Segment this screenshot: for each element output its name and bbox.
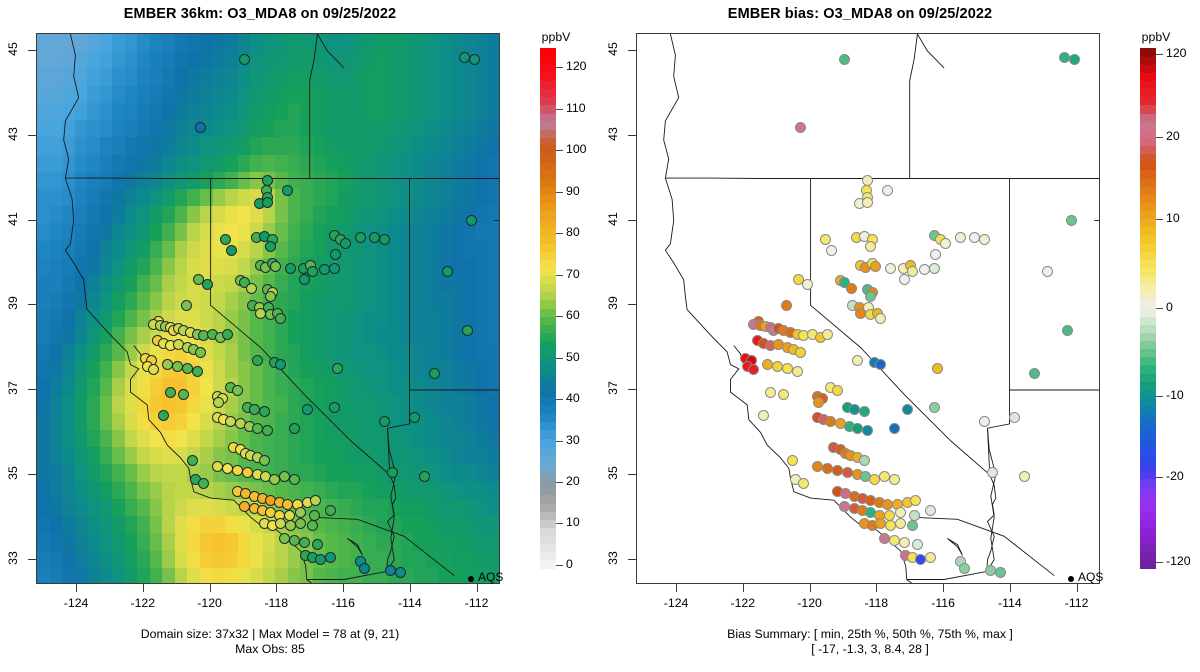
- obs-point: [226, 245, 237, 256]
- colorbar-segment: [540, 406, 556, 415]
- bias-point: [762, 359, 773, 370]
- x-tick-label: -116: [921, 596, 965, 610]
- bias-point: [1069, 54, 1080, 65]
- x-tick-label: -116: [321, 596, 365, 610]
- colorbar-tick-label: 0: [1166, 300, 1173, 314]
- bias-point: [865, 241, 876, 252]
- y-tick-label: 37: [6, 377, 20, 399]
- bias-point: [778, 389, 789, 400]
- model-caption-line2: Max Obs: 85: [0, 642, 540, 657]
- y-tick: [628, 304, 636, 305]
- x-tick: [1010, 584, 1011, 592]
- colorbar-segment: [1140, 243, 1156, 252]
- colorbar-segment: [1140, 89, 1156, 98]
- colorbar-segment: [540, 276, 556, 285]
- bias-point: [758, 410, 769, 421]
- bias-point: [885, 263, 896, 274]
- bias-point: [846, 283, 857, 294]
- colorbar-segment: [540, 324, 556, 333]
- x-tick: [943, 584, 944, 592]
- colorbar-segment: [540, 284, 556, 293]
- obs-point: [181, 300, 192, 311]
- obs-point: [379, 416, 390, 427]
- colorbar-segment: [540, 316, 556, 325]
- aqs-legend-dot-left: [468, 576, 474, 582]
- colorbar-tick: [556, 482, 563, 483]
- colorbar-segment: [540, 422, 556, 431]
- bias-observation-points: [637, 34, 1099, 583]
- obs-point: [279, 471, 290, 482]
- obs-point: [198, 478, 209, 489]
- obs-point: [282, 185, 293, 196]
- colorbar-segment: [1140, 300, 1156, 309]
- colorbar-segment: [1140, 227, 1156, 236]
- colorbar-segment: [540, 146, 556, 155]
- bias-point: [1029, 368, 1040, 379]
- obs-point: [387, 467, 398, 478]
- obs-point: [252, 423, 263, 434]
- colorbar-segment: [540, 511, 556, 520]
- obs-point: [330, 249, 341, 260]
- colorbar-tick: [556, 67, 563, 68]
- colorbar-segment: [1140, 267, 1156, 276]
- obs-point: [302, 404, 313, 415]
- bias-point: [995, 567, 1006, 578]
- y-tick-label: 41: [606, 208, 620, 230]
- colorbar-segment: [1140, 349, 1156, 358]
- x-tick-label: -124: [654, 596, 698, 610]
- x-tick-label: -122: [721, 596, 765, 610]
- colorbar-segment: [540, 430, 556, 439]
- obs-point: [419, 471, 430, 482]
- colorbar-segment: [1140, 397, 1156, 406]
- bias-colorbar: [1140, 48, 1156, 568]
- colorbar-segment: [540, 202, 556, 211]
- x-tick-label: -120: [788, 596, 832, 610]
- bias-point: [889, 535, 900, 546]
- x-tick-label: -114: [988, 596, 1032, 610]
- bias-point: [899, 274, 910, 285]
- bias-caption-line1: Bias Summary: [ min, 25th %, 50th %, 75t…: [600, 627, 1140, 642]
- bias-point: [859, 406, 870, 417]
- colorbar-tick: [556, 233, 563, 234]
- obs-point: [270, 261, 281, 272]
- bias-point: [802, 279, 813, 290]
- obs-point: [284, 510, 295, 521]
- colorbar-segment: [540, 235, 556, 244]
- colorbar-segment: [540, 527, 556, 536]
- y-tick-label: 43: [6, 123, 20, 145]
- colorbar-tick: [1156, 219, 1163, 220]
- obs-point: [299, 274, 310, 285]
- bias-point: [832, 385, 843, 396]
- y-tick-label: 39: [6, 292, 20, 314]
- bias-point: [959, 563, 970, 574]
- colorbar-segment: [540, 357, 556, 366]
- colorbar-segment: [540, 300, 556, 309]
- obs-point: [462, 325, 473, 336]
- aqs-legend-dot-right: [1068, 576, 1074, 582]
- obs-point: [332, 363, 343, 374]
- colorbar-segment: [540, 137, 556, 146]
- colorbar-segment: [1140, 162, 1156, 171]
- obs-point: [148, 364, 159, 375]
- colorbar-tick-label: -20: [1166, 469, 1184, 483]
- obs-point: [299, 537, 310, 548]
- bias-point: [782, 363, 793, 374]
- bias-point: [1019, 471, 1030, 482]
- colorbar-segment: [1140, 446, 1156, 455]
- colorbar-segment: [540, 162, 556, 171]
- colorbar-tick-label: 10: [566, 515, 580, 529]
- colorbar-tick-label: 0: [566, 557, 573, 571]
- colorbar-segment: [540, 113, 556, 122]
- bias-point: [826, 245, 837, 256]
- bias-point: [869, 474, 880, 485]
- obs-point: [262, 425, 273, 436]
- colorbar-segment: [1140, 178, 1156, 187]
- obs-point: [289, 423, 300, 434]
- colorbar-segment: [1140, 202, 1156, 211]
- bias-colorbar-unit: ppbV: [1128, 30, 1184, 44]
- colorbar-segment: [540, 56, 556, 65]
- panel-bias-title: EMBER bias: O3_MDA8 on 09/25/2022: [600, 6, 1120, 22]
- bias-point: [884, 510, 895, 521]
- colorbar-tick-label: 100: [566, 142, 587, 156]
- bias-point: [865, 291, 876, 302]
- colorbar-segment: [1140, 560, 1156, 569]
- colorbar-tick-label: 80: [566, 225, 580, 239]
- obs-point: [395, 567, 406, 578]
- bias-point: [979, 416, 990, 427]
- colorbar-tick: [556, 565, 563, 566]
- bias-point: [925, 505, 936, 516]
- colorbar-segment: [540, 154, 556, 163]
- panel-model-title: EMBER 36km: O3_MDA8 on 09/25/2022: [0, 6, 520, 22]
- obs-point: [329, 263, 340, 274]
- bias-point: [1009, 412, 1020, 423]
- obs-point: [158, 410, 169, 421]
- y-tick-label: 39: [606, 292, 620, 314]
- bias-point: [909, 510, 920, 521]
- obs-point: [466, 215, 477, 226]
- obs-point: [355, 232, 366, 243]
- colorbar-segment: [540, 381, 556, 390]
- colorbar-segment: [540, 332, 556, 341]
- x-tick: [76, 584, 77, 592]
- colorbar-segment: [540, 462, 556, 471]
- colorbar-segment: [1140, 341, 1156, 350]
- x-tick: [1077, 584, 1078, 592]
- bias-caption-line2: [ -17, -1.3, 3, 8.4, 28 ]: [600, 642, 1140, 657]
- x-tick: [343, 584, 344, 592]
- bias-point: [795, 347, 806, 358]
- obs-point: [319, 264, 330, 275]
- colorbar-segment: [1140, 137, 1156, 146]
- bias-point: [822, 329, 833, 340]
- colorbar-segment: [1140, 154, 1156, 163]
- colorbar-segment: [1140, 194, 1156, 203]
- obs-point: [262, 197, 273, 208]
- model-colorbar: [540, 48, 556, 568]
- colorbar-tick: [1156, 54, 1163, 55]
- colorbar-segment: [1140, 211, 1156, 220]
- colorbar-tick: [1156, 137, 1163, 138]
- colorbar-segment: [1140, 544, 1156, 553]
- bias-point: [862, 425, 873, 436]
- colorbar-tick: [556, 192, 563, 193]
- colorbar-segment: [1140, 487, 1156, 496]
- obs-point: [285, 263, 296, 274]
- x-tick-label: -124: [54, 596, 98, 610]
- colorbar-segment: [1140, 462, 1156, 471]
- colorbar-segment: [540, 389, 556, 398]
- colorbar-segment: [1140, 381, 1156, 390]
- bias-point: [889, 423, 900, 434]
- bias-point: [870, 261, 881, 272]
- bias-point: [839, 54, 850, 65]
- obs-point: [187, 455, 198, 466]
- colorbar-segment: [540, 251, 556, 260]
- colorbar-segment: [540, 227, 556, 236]
- bias-point: [1066, 215, 1077, 226]
- figure-root: EMBER 36km: O3_MDA8 on 09/25/2022 333537…: [0, 0, 1200, 672]
- bias-point: [929, 263, 940, 274]
- obs-point: [259, 455, 270, 466]
- colorbar-segment: [540, 48, 556, 57]
- bias-point: [879, 471, 890, 482]
- obs-point: [359, 563, 370, 574]
- colorbar-segment: [1140, 495, 1156, 504]
- colorbar-segment: [540, 243, 556, 252]
- bias-point: [1042, 266, 1053, 277]
- obs-point: [232, 385, 243, 396]
- colorbar-segment: [540, 105, 556, 114]
- colorbar-segment: [1140, 357, 1156, 366]
- bias-point: [879, 533, 890, 544]
- x-tick: [876, 584, 877, 592]
- colorbar-segment: [540, 495, 556, 504]
- x-tick: [676, 584, 677, 592]
- bias-point: [987, 467, 998, 478]
- x-tick: [210, 584, 211, 592]
- bias-point: [929, 402, 940, 413]
- x-tick: [477, 584, 478, 592]
- colorbar-segment: [540, 365, 556, 374]
- bias-point: [875, 359, 886, 370]
- panel-bias: EMBER bias: O3_MDA8 on 09/25/2022 333537…: [600, 0, 1200, 672]
- colorbar-segment: [540, 349, 556, 358]
- obs-point: [340, 238, 351, 249]
- colorbar-segment: [540, 544, 556, 553]
- colorbar-tick: [556, 275, 563, 276]
- colorbar-segment: [1140, 438, 1156, 447]
- obs-point: [310, 495, 321, 506]
- colorbar-tick: [1156, 562, 1163, 563]
- colorbar-segment: [1140, 146, 1156, 155]
- colorbar-segment: [540, 267, 556, 276]
- bias-point: [932, 363, 943, 374]
- obs-point: [295, 507, 306, 518]
- bias-point: [902, 404, 913, 415]
- colorbar-segment: [1140, 284, 1156, 293]
- colorbar-segment: [540, 454, 556, 463]
- colorbar-tick: [556, 316, 563, 317]
- y-tick-label: 45: [6, 38, 20, 60]
- bias-point: [787, 455, 798, 466]
- colorbar-segment: [540, 194, 556, 203]
- bias-point: [820, 234, 831, 245]
- colorbar-segment: [540, 397, 556, 406]
- colorbar-segment: [1140, 235, 1156, 244]
- bias-point: [930, 249, 941, 260]
- colorbar-segment: [1140, 129, 1156, 138]
- obs-point: [246, 283, 257, 294]
- x-tick-label: -122: [121, 596, 165, 610]
- colorbar-tick-label: 20: [566, 474, 580, 488]
- y-tick: [28, 220, 36, 221]
- colorbar-segment: [1140, 511, 1156, 520]
- bias-point: [895, 518, 906, 529]
- panel-model: EMBER 36km: O3_MDA8 on 09/25/2022 333537…: [0, 0, 600, 672]
- colorbar-segment: [540, 64, 556, 73]
- colorbar-segment: [1140, 97, 1156, 106]
- colorbar-segment: [1140, 113, 1156, 122]
- colorbar-tick-label: 10: [1166, 211, 1180, 225]
- colorbar-segment: [1140, 48, 1156, 57]
- bias-point: [859, 455, 870, 466]
- obs-point: [289, 474, 300, 485]
- bias-point: [852, 423, 863, 434]
- colorbar-segment: [540, 446, 556, 455]
- obs-point: [213, 397, 224, 408]
- obs-point: [265, 291, 276, 302]
- obs-point: [265, 241, 276, 252]
- obs-point: [295, 518, 306, 529]
- obs-point: [182, 363, 193, 374]
- colorbar-tick-label: 110: [566, 101, 586, 115]
- colorbar-segment: [540, 503, 556, 512]
- bias-point: [781, 300, 792, 311]
- x-tick-label: -120: [188, 596, 232, 610]
- colorbar-tick: [556, 441, 563, 442]
- obs-point: [165, 387, 176, 398]
- y-tick: [628, 474, 636, 475]
- colorbar-segment: [1140, 251, 1156, 260]
- colorbar-segment: [1140, 332, 1156, 341]
- bias-point: [813, 397, 824, 408]
- bias-point: [798, 478, 809, 489]
- bias-point: [907, 520, 918, 531]
- colorbar-segment: [1140, 219, 1156, 228]
- colorbar-tick: [1156, 396, 1163, 397]
- colorbar-segment: [540, 170, 556, 179]
- y-tick-label: 35: [6, 462, 20, 484]
- y-tick: [628, 559, 636, 560]
- colorbar-tick: [556, 358, 563, 359]
- colorbar-segment: [540, 560, 556, 569]
- x-tick-label: -114: [388, 596, 432, 610]
- x-tick: [410, 584, 411, 592]
- obs-point: [275, 313, 286, 324]
- model-caption-line1: Domain size: 37x32 | Max Model = 78 at (…: [0, 627, 540, 642]
- colorbar-segment: [1140, 186, 1156, 195]
- colorbar-segment: [1140, 527, 1156, 536]
- colorbar-segment: [540, 121, 556, 130]
- colorbar-segment: [540, 341, 556, 350]
- colorbar-segment: [1140, 422, 1156, 431]
- colorbar-tick-label: 60: [566, 308, 580, 322]
- colorbar-segment: [540, 552, 556, 561]
- colorbar-segment: [540, 97, 556, 106]
- obs-point: [195, 347, 206, 358]
- colorbar-segment: [1140, 72, 1156, 81]
- colorbar-segment: [1140, 471, 1156, 480]
- colorbar-segment: [1140, 170, 1156, 179]
- obs-point: [307, 520, 318, 531]
- obs-point: [269, 474, 280, 485]
- obs-point: [220, 234, 231, 245]
- colorbar-tick-label: -120: [1166, 554, 1191, 568]
- bias-point: [940, 238, 951, 249]
- colorbar-segment: [1140, 373, 1156, 382]
- colorbar-tick-label: 40: [566, 391, 580, 405]
- bias-point: [889, 474, 900, 485]
- x-tick-label: -118: [254, 596, 298, 610]
- y-tick: [628, 220, 636, 221]
- bias-point: [875, 313, 886, 324]
- aqs-legend-label-right: AQS: [1078, 570, 1103, 584]
- x-tick-label: -118: [854, 596, 898, 610]
- colorbar-segment: [540, 81, 556, 90]
- obs-point: [162, 359, 173, 370]
- bias-point: [748, 364, 759, 375]
- x-tick: [810, 584, 811, 592]
- y-tick-label: 35: [606, 462, 620, 484]
- colorbar-tick-label: 30: [566, 433, 580, 447]
- colorbar-tick-label: 50: [566, 350, 580, 364]
- bias-point: [795, 122, 806, 133]
- bias-point: [852, 355, 863, 366]
- obs-point: [379, 234, 390, 245]
- colorbar-segment: [1140, 292, 1156, 301]
- colorbar-segment: [540, 373, 556, 382]
- obs-point: [325, 552, 336, 563]
- x-tick: [276, 584, 277, 592]
- bias-point: [979, 234, 990, 245]
- bias-point: [862, 197, 873, 208]
- colorbar-segment: [540, 219, 556, 228]
- obs-point: [222, 329, 233, 340]
- colorbar-segment: [540, 186, 556, 195]
- bias-point: [862, 175, 873, 186]
- colorbar-segment: [1140, 479, 1156, 488]
- obs-point: [329, 402, 340, 413]
- y-tick: [28, 559, 36, 560]
- obs-point: [369, 232, 380, 243]
- colorbar-segment: [540, 536, 556, 545]
- aqs-legend-label-left: AQS: [478, 570, 503, 584]
- y-tick-label: 33: [6, 547, 20, 569]
- y-tick-label: 43: [606, 123, 620, 145]
- colorbar-segment: [1140, 454, 1156, 463]
- colorbar-segment: [1140, 64, 1156, 73]
- obs-point: [259, 406, 270, 417]
- obs-point: [239, 501, 250, 512]
- colorbar-segment: [1140, 365, 1156, 374]
- colorbar-segment: [540, 129, 556, 138]
- x-tick-label: -112: [1055, 596, 1099, 610]
